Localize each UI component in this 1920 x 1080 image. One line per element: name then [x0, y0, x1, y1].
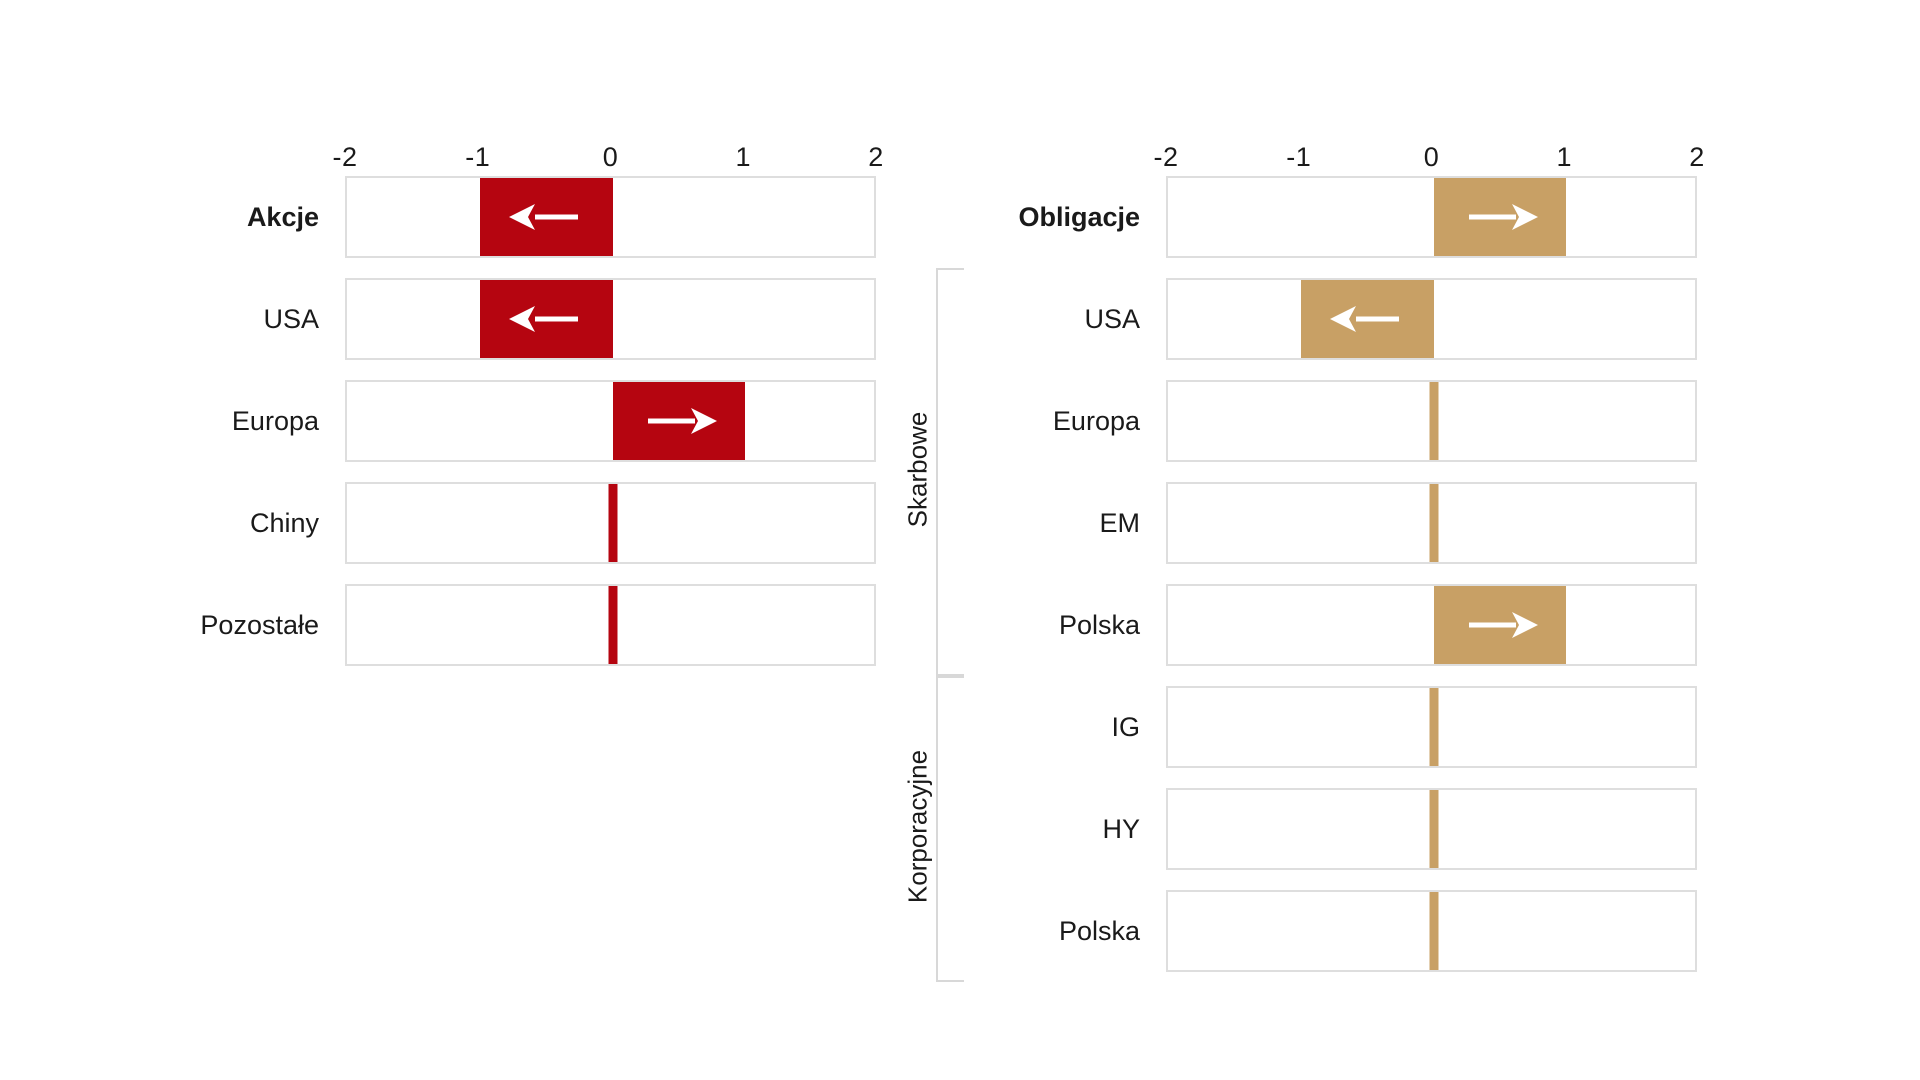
chart-row: Europa [900, 380, 1697, 462]
neutral-marker-icon [1429, 382, 1438, 460]
equities-x-axis: -2-1012 [0, 140, 900, 174]
row-label-europa: Europa [40, 380, 345, 462]
row-track [1166, 380, 1697, 462]
bonds-x-axis: -2-1012 [900, 140, 1920, 174]
chart-row: Obligacje [900, 176, 1697, 258]
chart-row: Pozostałe [0, 584, 876, 666]
row-track [1166, 584, 1697, 666]
row-track [1166, 788, 1697, 870]
chart-row: Europa [0, 380, 876, 462]
arrow-right-icon [648, 403, 717, 439]
arrow-right-icon [1469, 607, 1538, 643]
x-tick-1: 1 [735, 140, 751, 174]
row-track [345, 482, 876, 564]
equities-panel: -2-1012 AkcjeUSAEuropaChinyPozostałe [0, 0, 900, 1080]
row-track [345, 380, 876, 462]
x-tick-0: 0 [1424, 140, 1440, 174]
neutral-marker-icon [1429, 892, 1438, 970]
x-tick--2: -2 [1153, 140, 1178, 174]
x-tick-1: 1 [1556, 140, 1572, 174]
x-tick--2: -2 [332, 140, 357, 174]
value-bar [1434, 178, 1567, 256]
row-label-usa: USA [40, 278, 345, 360]
chart-row: Polska [900, 584, 1697, 666]
neutral-marker-icon [1429, 484, 1438, 562]
chart-row: Polska [900, 890, 1697, 972]
value-bar [1434, 586, 1567, 664]
neutral-marker-icon [1429, 688, 1438, 766]
x-tick-0: 0 [603, 140, 619, 174]
x-tick-2: 2 [1689, 140, 1705, 174]
chart-row: HY [900, 788, 1697, 870]
x-tick--1: -1 [465, 140, 490, 174]
x-tick-2: 2 [868, 140, 884, 174]
row-label-pozostałe: Pozostałe [40, 584, 345, 666]
row-label-europa: Europa [960, 380, 1166, 462]
x-tick--1: -1 [1286, 140, 1311, 174]
chart-row: IG [900, 686, 1697, 768]
arrow-left-icon [509, 199, 578, 235]
row-track [1166, 176, 1697, 258]
row-track [345, 584, 876, 666]
neutral-marker-icon [608, 484, 617, 562]
arrow-left-icon [1330, 301, 1399, 337]
value-bar [613, 382, 746, 460]
row-label-akcje: Akcje [40, 176, 345, 258]
value-bar [480, 280, 613, 358]
chart-row: Akcje [0, 176, 876, 258]
row-label-usa: USA [960, 278, 1166, 360]
row-label-em: EM [960, 482, 1166, 564]
value-bar [480, 178, 613, 256]
bonds-panel: -2-1012 SkarboweKorporacyjne ObligacjeUS… [900, 0, 1920, 1080]
row-track [1166, 482, 1697, 564]
value-bar [1301, 280, 1434, 358]
chart-row: USA [0, 278, 876, 360]
row-track [1166, 686, 1697, 768]
neutral-marker-icon [608, 586, 617, 664]
row-label-chiny: Chiny [40, 482, 345, 564]
row-label-ig: IG [960, 686, 1166, 768]
arrow-left-icon [509, 301, 578, 337]
chart-row: EM [900, 482, 1697, 564]
row-label-hy: HY [960, 788, 1166, 870]
row-track [345, 176, 876, 258]
row-label-polska: Polska [960, 584, 1166, 666]
row-track [1166, 278, 1697, 360]
row-track [345, 278, 876, 360]
neutral-marker-icon [1429, 790, 1438, 868]
chart-row: Chiny [0, 482, 876, 564]
row-track [1166, 890, 1697, 972]
arrow-right-icon [1469, 199, 1538, 235]
row-label-obligacje: Obligacje [960, 176, 1166, 258]
row-label-polska: Polska [960, 890, 1166, 972]
chart-row: USA [900, 278, 1697, 360]
